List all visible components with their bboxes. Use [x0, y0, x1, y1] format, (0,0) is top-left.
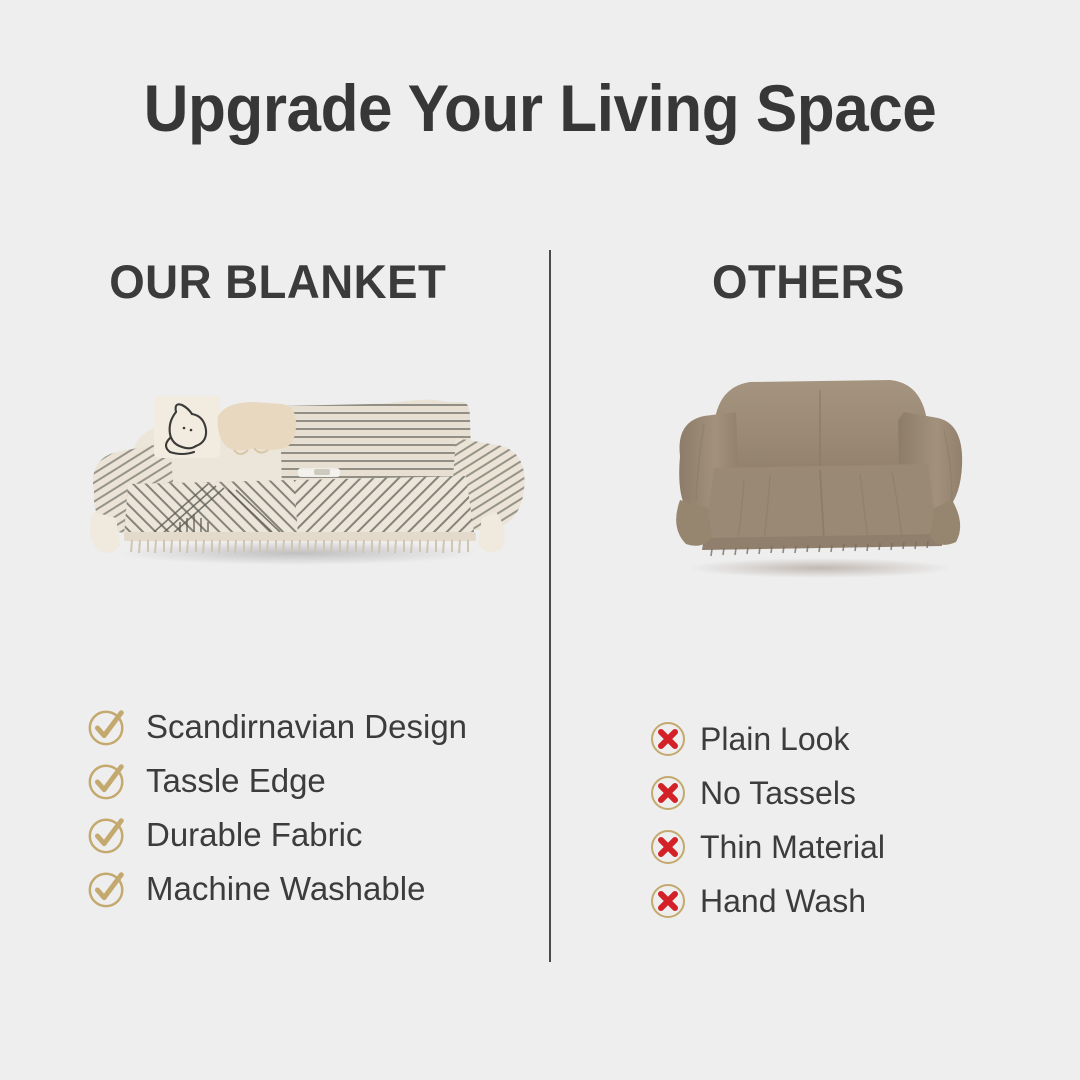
list-item: Tassle Edge — [86, 754, 467, 808]
x-circle-icon — [650, 829, 686, 865]
feature-label: Scandirnavian Design — [146, 708, 467, 746]
vertical-divider — [549, 250, 551, 962]
check-circle-icon — [86, 706, 128, 748]
feature-label: Durable Fabric — [146, 816, 362, 854]
x-circle-icon — [650, 883, 686, 919]
feature-label: Tassle Edge — [146, 762, 326, 800]
feature-label: Thin Material — [700, 828, 885, 866]
list-item: Durable Fabric — [86, 808, 467, 862]
feature-label: Machine Washable — [146, 870, 425, 908]
page-title: Upgrade Your Living Space — [32, 68, 1047, 148]
list-item: Machine Washable — [86, 862, 467, 916]
list-item: Scandirnavian Design — [86, 700, 467, 754]
list-item: Thin Material — [650, 820, 885, 874]
list-item: Hand Wash — [650, 874, 885, 928]
check-circle-icon — [86, 868, 128, 910]
feature-label: No Tassels — [700, 774, 856, 812]
feature-label: Hand Wash — [700, 882, 866, 920]
x-circle-icon — [650, 721, 686, 757]
list-item: No Tassels — [650, 766, 885, 820]
product-image-our-blanket — [58, 372, 528, 582]
product-image-others — [652, 360, 988, 582]
feature-label: Plain Look — [700, 720, 849, 758]
x-circle-icon — [650, 775, 686, 811]
column-header-others: OTHERS — [712, 254, 905, 310]
list-item: Plain Look — [650, 712, 885, 766]
check-circle-icon — [86, 814, 128, 856]
comparison-infographic: Upgrade Your Living Space OUR BLANKET OT… — [0, 0, 1080, 1080]
check-circle-icon — [86, 760, 128, 802]
feature-list-our-blanket: Scandirnavian Design Tassle Edge Durable… — [86, 700, 467, 916]
column-header-ours: OUR BLANKET — [109, 254, 446, 310]
feature-list-others: Plain Look No Tassels Thin Material Hand… — [650, 712, 885, 928]
